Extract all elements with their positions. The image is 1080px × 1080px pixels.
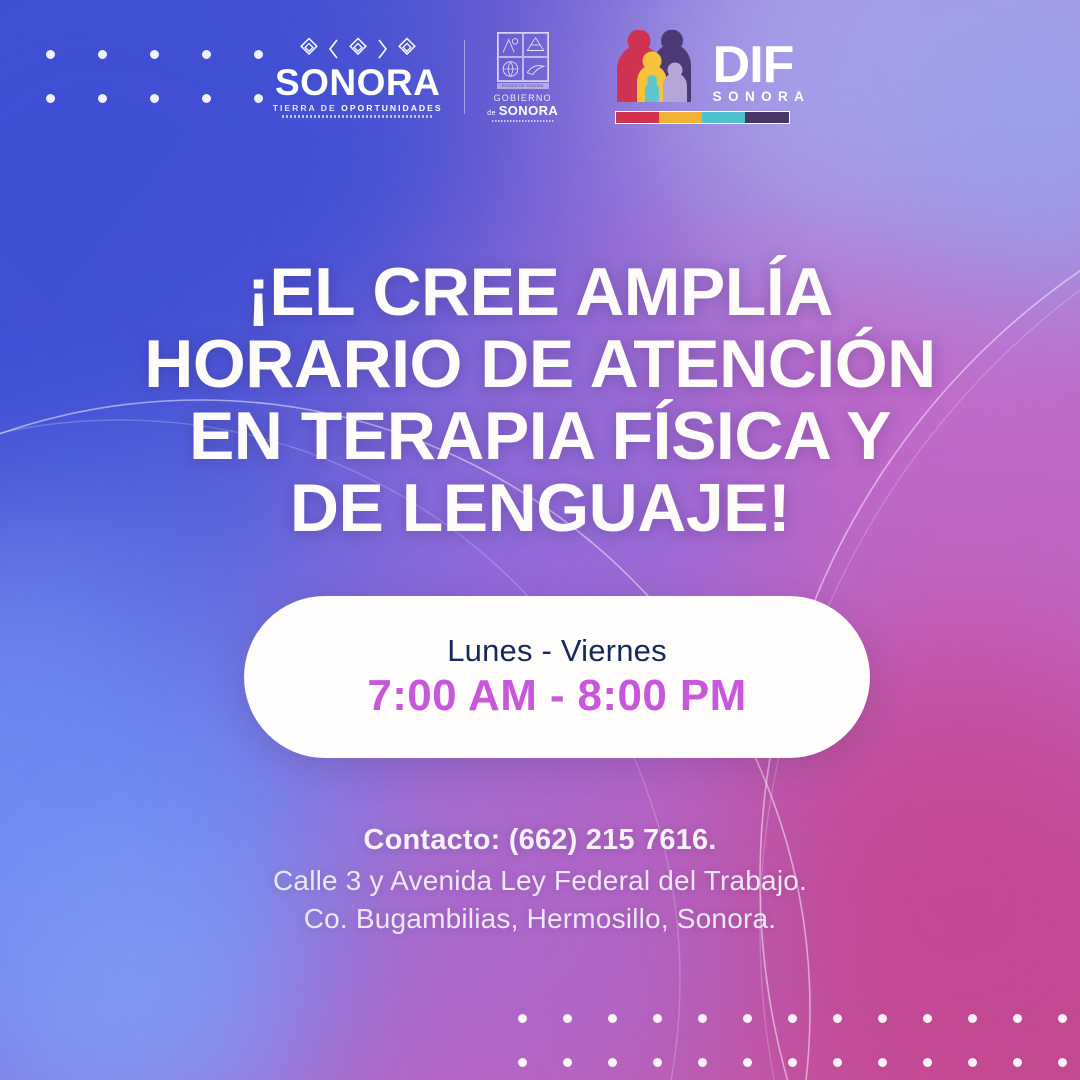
contact-colony: Co. Bugambilias, Hermosillo, Sonora. (0, 900, 1080, 938)
seal-caption: ESTADO DE SONORA (497, 83, 549, 89)
sonora-state-seal-icon (497, 32, 549, 82)
gobierno-dashed-rule (492, 120, 554, 122)
gobierno-line2-main: SONORA (499, 103, 558, 118)
headline-line-3: EN TERAPIA FÍSICA Y (0, 400, 1080, 472)
chevron-left-icon (327, 38, 340, 60)
sonora-tagline: TIERRA DE OPORTUNIDADES (273, 103, 443, 113)
dif-subtitle: SONORA (713, 89, 811, 104)
sonora-tagline-strong: OPORTUNIDADES (341, 103, 442, 113)
chevron-right-icon (376, 38, 389, 60)
contact-block: Contacto: (662) 215 7616. Calle 3 y Aven… (0, 824, 1080, 938)
sonora-wordmark: SONORA (275, 65, 440, 101)
diamond-icon (296, 36, 322, 62)
sonora-diamond-row (296, 36, 420, 62)
gobierno-line2: de SONORA (487, 103, 558, 118)
diamond-icon (394, 36, 420, 62)
sonora-logo: SONORA TIERRA DE OPORTUNIDADES (270, 36, 446, 119)
sonora-dashed-rule (282, 115, 434, 118)
gobierno-line1: GOBIERNO (494, 93, 552, 103)
page-title: ¡EL CREE AMPLÍA HORARIO DE ATENCIÓN EN T… (0, 256, 1080, 544)
family-group-icon (615, 30, 701, 104)
dot-grid-bottom-right (500, 996, 1080, 1080)
contact-street: Calle 3 y Avenida Ley Federal del Trabaj… (0, 862, 1080, 900)
schedule-card: Lunes - Viernes 7:00 AM - 8:00 PM (244, 596, 870, 758)
headline-line-2: HORARIO DE ATENCIÓN (0, 328, 1080, 400)
diamond-icon (345, 36, 371, 62)
dif-sonora-logo: DIF SONORA (615, 30, 811, 124)
poster-canvas: SONORA TIERRA DE OPORTUNIDADES ESTADO DE… (0, 0, 1080, 1080)
dif-color-bar (615, 111, 790, 124)
gobierno-line2-small: de (487, 110, 499, 117)
logo-divider (464, 40, 465, 114)
gobierno-sonora-logo: ESTADO DE SONORA GOBIERNO de SONORA (483, 32, 563, 122)
schedule-hours: 7:00 AM - 8:00 PM (367, 671, 746, 721)
sonora-tagline-prefix: TIERRA DE (273, 103, 341, 113)
headline-line-4: DE LENGUAJE! (0, 472, 1080, 544)
contact-phone: Contacto: (662) 215 7616. (0, 824, 1080, 857)
headline-line-1: ¡EL CREE AMPLÍA (0, 256, 1080, 328)
dif-wordmark: DIF (713, 44, 794, 88)
logo-bar: SONORA TIERRA DE OPORTUNIDADES ESTADO DE… (0, 30, 1080, 124)
schedule-days: Lunes - Viernes (447, 633, 667, 669)
